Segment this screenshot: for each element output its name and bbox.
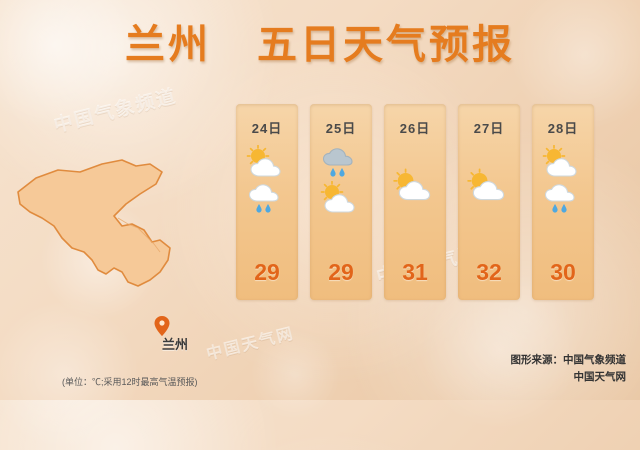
gansu-province-shape xyxy=(10,120,240,310)
forecast-temperature: 29 xyxy=(310,259,372,286)
weather-icon-group xyxy=(465,167,513,203)
sun-behind-cloud-icon xyxy=(318,181,364,215)
forecast-card-day-2[interactable]: 25日 29 xyxy=(310,104,372,300)
forecast-temperature: 30 xyxy=(532,259,594,286)
page-title: 兰州 五日天气预报 xyxy=(0,12,640,70)
forecast-title: 五日天气预报 xyxy=(257,12,515,70)
city-name: 兰州 xyxy=(125,12,211,70)
forecast-card-day-5[interactable]: 28日 30 xyxy=(532,104,594,300)
rain-cloud-icon xyxy=(318,145,364,179)
weather-icon-group xyxy=(318,145,364,215)
unit-note: (单位：℃;采用12时最高气温预报) xyxy=(62,375,198,388)
forecast-date: 25日 xyxy=(326,118,356,137)
sun-behind-cloud-icon xyxy=(465,167,513,203)
bokeh-circle xyxy=(250,330,340,420)
forecast-date: 26日 xyxy=(400,118,430,137)
sun-behind-cloud-icon xyxy=(540,145,586,179)
forecast-temperature: 31 xyxy=(384,259,446,286)
weather-icon-group xyxy=(244,145,290,215)
forecast-card-day-4[interactable]: 27日 32 xyxy=(458,104,520,300)
forecast-temperature: 29 xyxy=(236,259,298,286)
weather-icon-group xyxy=(540,145,586,215)
forecast-date: 27日 xyxy=(474,118,504,137)
source-credit-line-2: 中国天气网 xyxy=(511,369,627,386)
sun-behind-cloud-icon xyxy=(244,145,290,179)
sun-behind-cloud-icon xyxy=(391,167,439,203)
forecast-card-day-1[interactable]: 24日 29 xyxy=(236,104,298,300)
forecast-card-list: 24日 29 25日 xyxy=(236,104,594,300)
map-city-label: 兰州 xyxy=(162,334,188,353)
location-pin-icon xyxy=(154,316,170,336)
forecast-date: 28日 xyxy=(548,118,578,137)
rain-cloud-icon xyxy=(244,181,290,215)
forecast-card-day-3[interactable]: 26日 31 xyxy=(384,104,446,300)
weather-icon-group xyxy=(391,167,439,203)
forecast-date: 24日 xyxy=(252,118,282,137)
source-credit-line-1: 图形来源：中国气象频道 xyxy=(511,352,627,369)
forecast-temperature: 32 xyxy=(458,259,520,286)
source-credit: 图形来源：中国气象频道 中国天气网 xyxy=(511,352,627,386)
rain-cloud-icon xyxy=(540,181,586,215)
province-map: 兰州 xyxy=(10,120,240,310)
watermark-weather-cn-secondary: 中国天气网 xyxy=(203,319,296,364)
